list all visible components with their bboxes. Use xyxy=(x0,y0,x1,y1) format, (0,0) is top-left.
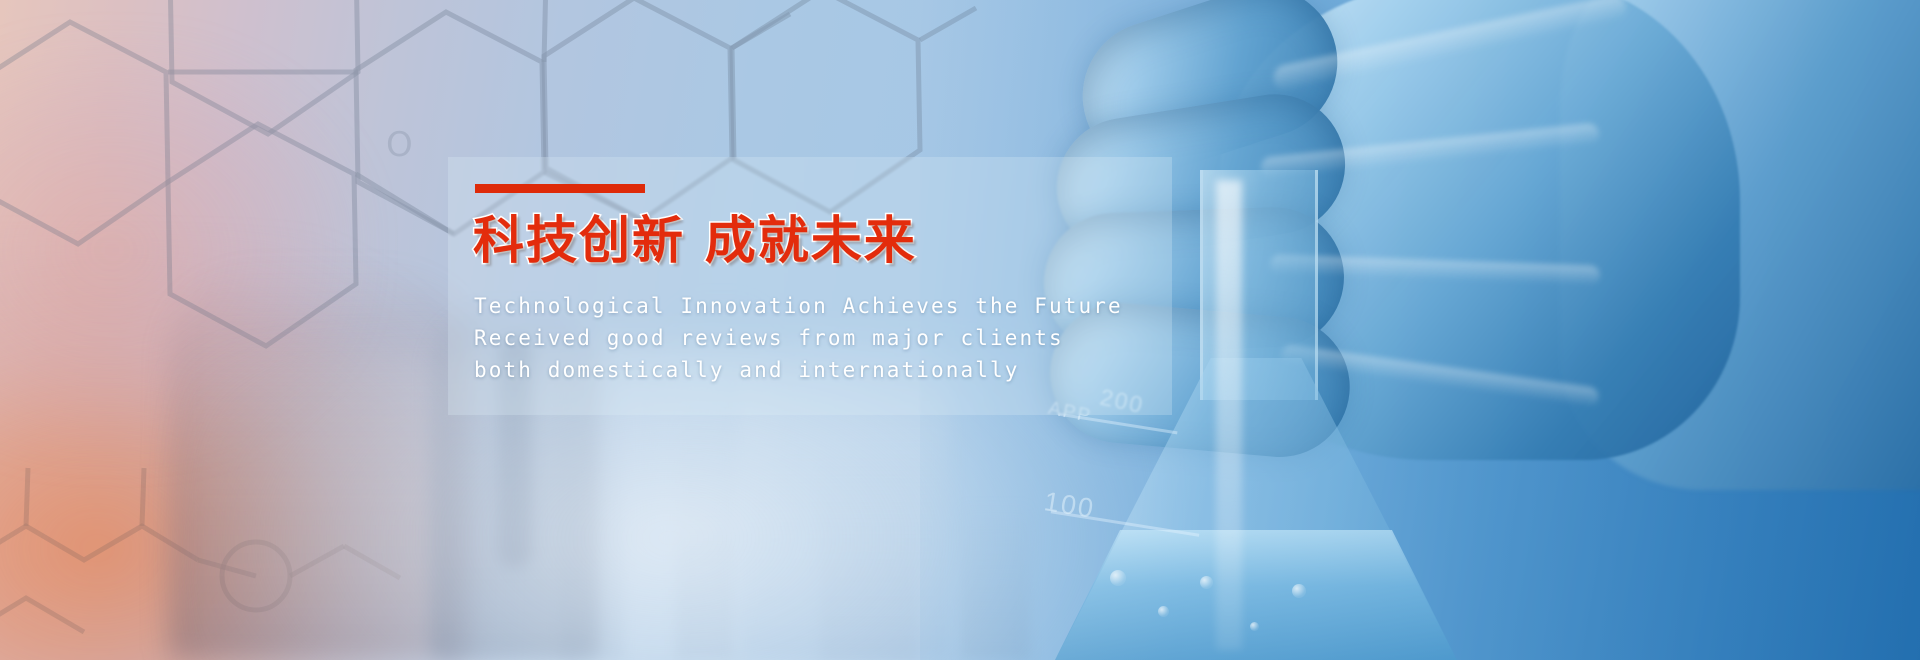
hero-banner: N O xyxy=(0,0,1920,660)
liquid-bubble xyxy=(1158,606,1169,617)
flask-highlight xyxy=(1216,180,1242,650)
page-title: 科技创新 成就未来 xyxy=(473,214,917,269)
red-accent-bar xyxy=(475,184,645,193)
hero-subtext: Technological Innovation Achieves the Fu… xyxy=(474,290,1154,386)
flask-liquid xyxy=(1050,530,1462,660)
liquid-bubble xyxy=(1292,584,1306,598)
hero-subtext-line-1: Technological Innovation Achieves the Fu… xyxy=(474,290,1154,322)
liquid-bubble xyxy=(1110,570,1126,586)
hero-subtext-line-3: both domestically and internationally xyxy=(474,354,1154,386)
hero-subtext-line-2: Received good reviews from major clients xyxy=(474,322,1154,354)
svg-text:O: O xyxy=(386,125,413,165)
liquid-bubble xyxy=(1250,622,1259,631)
liquid-bubble xyxy=(1200,576,1213,589)
flask-marking-100: 100 xyxy=(1042,486,1097,525)
